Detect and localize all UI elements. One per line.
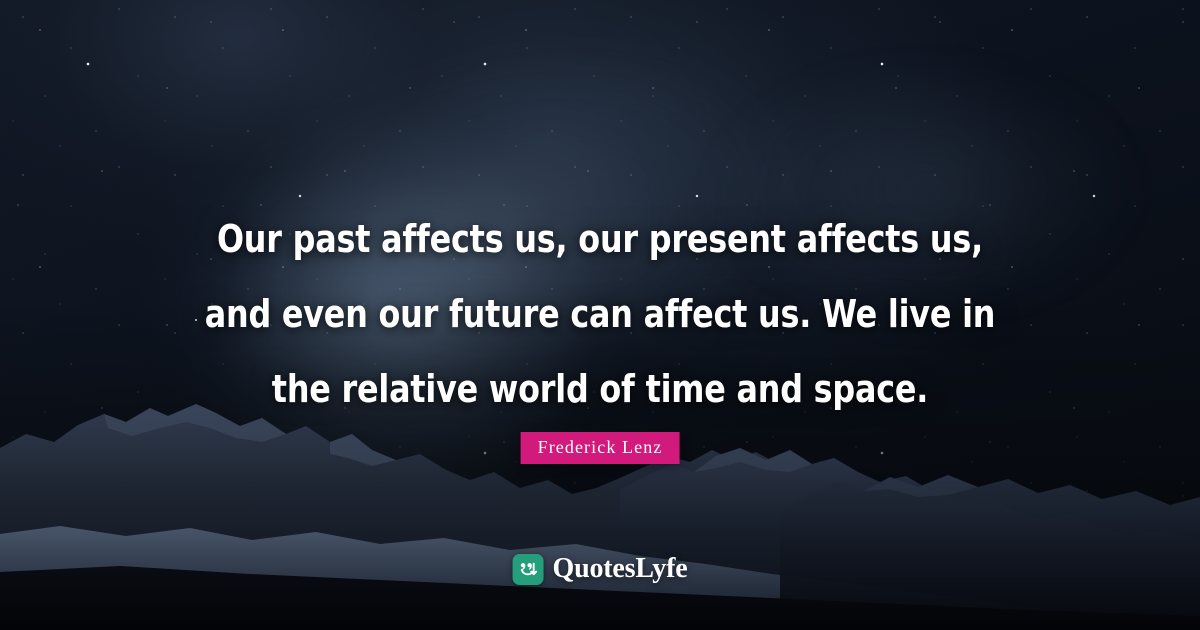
author-name: Frederick Lenz (538, 437, 663, 457)
quote-line-1: Our past affects us, our present affects… (154, 202, 1047, 277)
quote-text: Our past affects us, our present affects… (42, 202, 1158, 427)
quote-smiley-icon (513, 554, 544, 585)
author-badge[interactable]: Frederick Lenz (521, 432, 680, 464)
brand-name: QuotesLyfe (553, 553, 688, 585)
card-content: Our past affects us, our present affects… (0, 0, 1200, 630)
brand-logo[interactable]: QuotesLyfe (513, 553, 688, 585)
quote-line-3: the relative world of time and space. (154, 352, 1047, 427)
quote-line-2: and even our future can affect us. We li… (154, 277, 1047, 352)
quote-card: Our past affects us, our present affects… (0, 0, 1200, 630)
